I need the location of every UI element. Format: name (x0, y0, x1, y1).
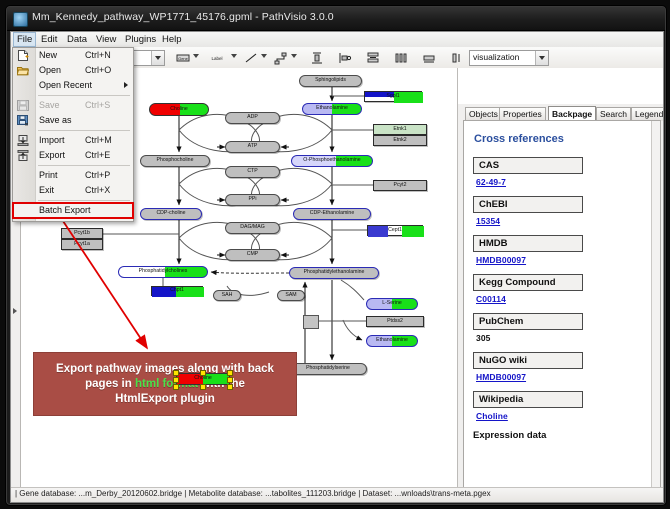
statusbar: | Gene database: ...m_Derby_20120602.bri… (11, 487, 663, 502)
status-text: | Gene database: ...m_Derby_20120602.bri… (15, 489, 491, 498)
tab-backpage[interactable]: Backpage (548, 106, 596, 121)
xref-source-nugo: NuGO wiki (473, 352, 583, 369)
stack-vertical-icon[interactable] (364, 49, 383, 68)
sidebar-panel: Objects Properties Backpage Search Legen… (458, 104, 663, 503)
distribute-icon[interactable] (392, 49, 411, 68)
menu-item-save-as[interactable]: Save as (13, 113, 133, 128)
backpage-panel[interactable]: Cross references CAS 62-49-7 ChEBI 15354… (463, 120, 661, 503)
menu-view[interactable]: View (92, 33, 120, 46)
tab-objects[interactable]: Objects (465, 107, 502, 121)
menu-item-new[interactable]: New Ctrl+N (13, 48, 133, 63)
banner-line-3: HtmlExport plugin (115, 392, 215, 407)
svg-text:Gene: Gene (178, 56, 189, 61)
menu-item-batch-export[interactable]: Batch Export (13, 203, 133, 218)
selection-handle[interactable] (173, 370, 179, 376)
backpage-content: Cross references CAS 62-49-7 ChEBI 15354… (464, 121, 652, 503)
selection-handle[interactable] (227, 384, 233, 390)
xref-source-wikipedia: Wikipedia (473, 391, 583, 408)
selection-handle[interactable] (200, 384, 206, 390)
banner-line-2-a: pages in (85, 378, 135, 390)
selection-handle[interactable] (173, 384, 179, 390)
visualization-combo[interactable]: visualization (469, 50, 549, 66)
xref-value-pubchem: 305 (476, 333, 646, 343)
xref-source-cas: CAS (473, 157, 583, 174)
xref-value-chebi[interactable]: 15354 (476, 216, 646, 226)
import-icon (17, 135, 29, 146)
banner-line-1: Export pathway images along with back (56, 362, 274, 377)
menu-item-open-recent[interactable]: Open Recent (13, 78, 133, 93)
xref-value-kegg[interactable]: C00114 (476, 294, 646, 304)
common-width-icon[interactable] (420, 49, 439, 68)
align-top-icon[interactable] (308, 49, 327, 68)
label-tool-icon[interactable]: Label (203, 49, 231, 68)
xref-value-wikipedia[interactable]: Choline (476, 411, 646, 421)
chevron-down-icon (155, 56, 161, 60)
visualization-value: visualization (473, 52, 519, 62)
align-left-icon[interactable] (336, 49, 355, 68)
label-dropdown-icon[interactable] (231, 54, 237, 58)
menu-item-open[interactable]: Open Ctrl+O (13, 63, 133, 78)
menu-item-print[interactable]: Print Ctrl+P (13, 168, 133, 183)
tab-search[interactable]: Search (596, 107, 631, 121)
menu-item-export[interactable]: Export Ctrl+E (13, 148, 133, 163)
menu-item-import[interactable]: Import Ctrl+M (13, 133, 133, 148)
export-icon (17, 150, 29, 161)
xref-source-hmdb: HMDB (473, 235, 583, 252)
interaction-tool-icon[interactable] (272, 49, 291, 68)
sidebar-tabstrip: Objects Properties Backpage Search Legen… (463, 106, 661, 120)
menu-item-save: Save Ctrl+S (13, 98, 133, 113)
selection-handle[interactable] (227, 370, 233, 376)
submenu-arrow-icon (124, 82, 128, 88)
chevron-down-icon (539, 56, 545, 60)
menu-separator (38, 165, 130, 166)
selection-handle[interactable] (227, 377, 233, 383)
file-menu-popup[interactable]: New Ctrl+N Open Ctrl+O Open Recent Save … (12, 47, 134, 222)
save-as-icon (17, 115, 29, 126)
pathvisio-icon (13, 12, 28, 27)
backpage-scrollbar[interactable] (651, 121, 660, 503)
menu-plugins[interactable]: Plugins (121, 33, 160, 46)
menu-data[interactable]: Data (63, 33, 91, 46)
xref-value-nugo[interactable]: HMDB00097 (476, 372, 646, 382)
datanode-dropdown-icon[interactable] (193, 54, 199, 58)
xref-source-chebi: ChEBI (473, 196, 583, 213)
tab-properties[interactable]: Properties (499, 107, 546, 121)
splitter-expand-icon[interactable] (13, 308, 17, 314)
line-tool-icon[interactable] (242, 49, 261, 68)
application-window: Mm_Kennedy_pathway_WP1771_45176.gpml - P… (6, 6, 666, 505)
xref-value-hmdb[interactable]: HMDB00097 (476, 255, 646, 265)
xref-source-kegg: Kegg Compound (473, 274, 583, 291)
menu-help[interactable]: Help (158, 33, 186, 46)
datanode-tool-icon[interactable]: Gene (174, 49, 193, 68)
selection-handle[interactable] (173, 377, 179, 383)
pathway-anchor-box[interactable] (303, 315, 319, 329)
app-body: File Edit Data View Plugins Help Zoom: 1… (10, 31, 664, 503)
menu-file[interactable]: File (13, 32, 36, 47)
interaction-dropdown-icon[interactable] (291, 54, 297, 58)
cross-references-heading: Cross references (474, 133, 646, 145)
menu-separator (38, 95, 130, 96)
menubar: File Edit Data View Plugins Help (11, 32, 663, 48)
expression-data-heading: Expression data (473, 430, 646, 441)
menu-item-exit[interactable]: Exit Ctrl+X (13, 183, 133, 198)
common-height-icon[interactable] (448, 49, 467, 68)
svg-text:Label: Label (211, 56, 222, 61)
selection-handle[interactable] (200, 370, 206, 376)
menu-separator (38, 130, 130, 131)
save-disk-icon (17, 100, 29, 111)
menu-separator (38, 200, 130, 201)
tab-legend[interactable]: Legend (631, 107, 664, 121)
annotation-banner: Export pathway images along with back pa… (33, 352, 297, 416)
line-dropdown-icon[interactable] (261, 54, 267, 58)
window-title: Mm_Kennedy_pathway_WP1771_45176.gpml - P… (32, 11, 334, 23)
xref-source-pubchem: PubChem (473, 313, 583, 330)
xref-value-cas[interactable]: 62-49-7 (476, 177, 646, 187)
new-document-icon (17, 50, 29, 61)
window-titlebar: Mm_Kennedy_pathway_WP1771_45176.gpml - P… (7, 7, 665, 31)
menu-edit[interactable]: Edit (37, 33, 61, 46)
open-folder-icon (17, 65, 29, 76)
